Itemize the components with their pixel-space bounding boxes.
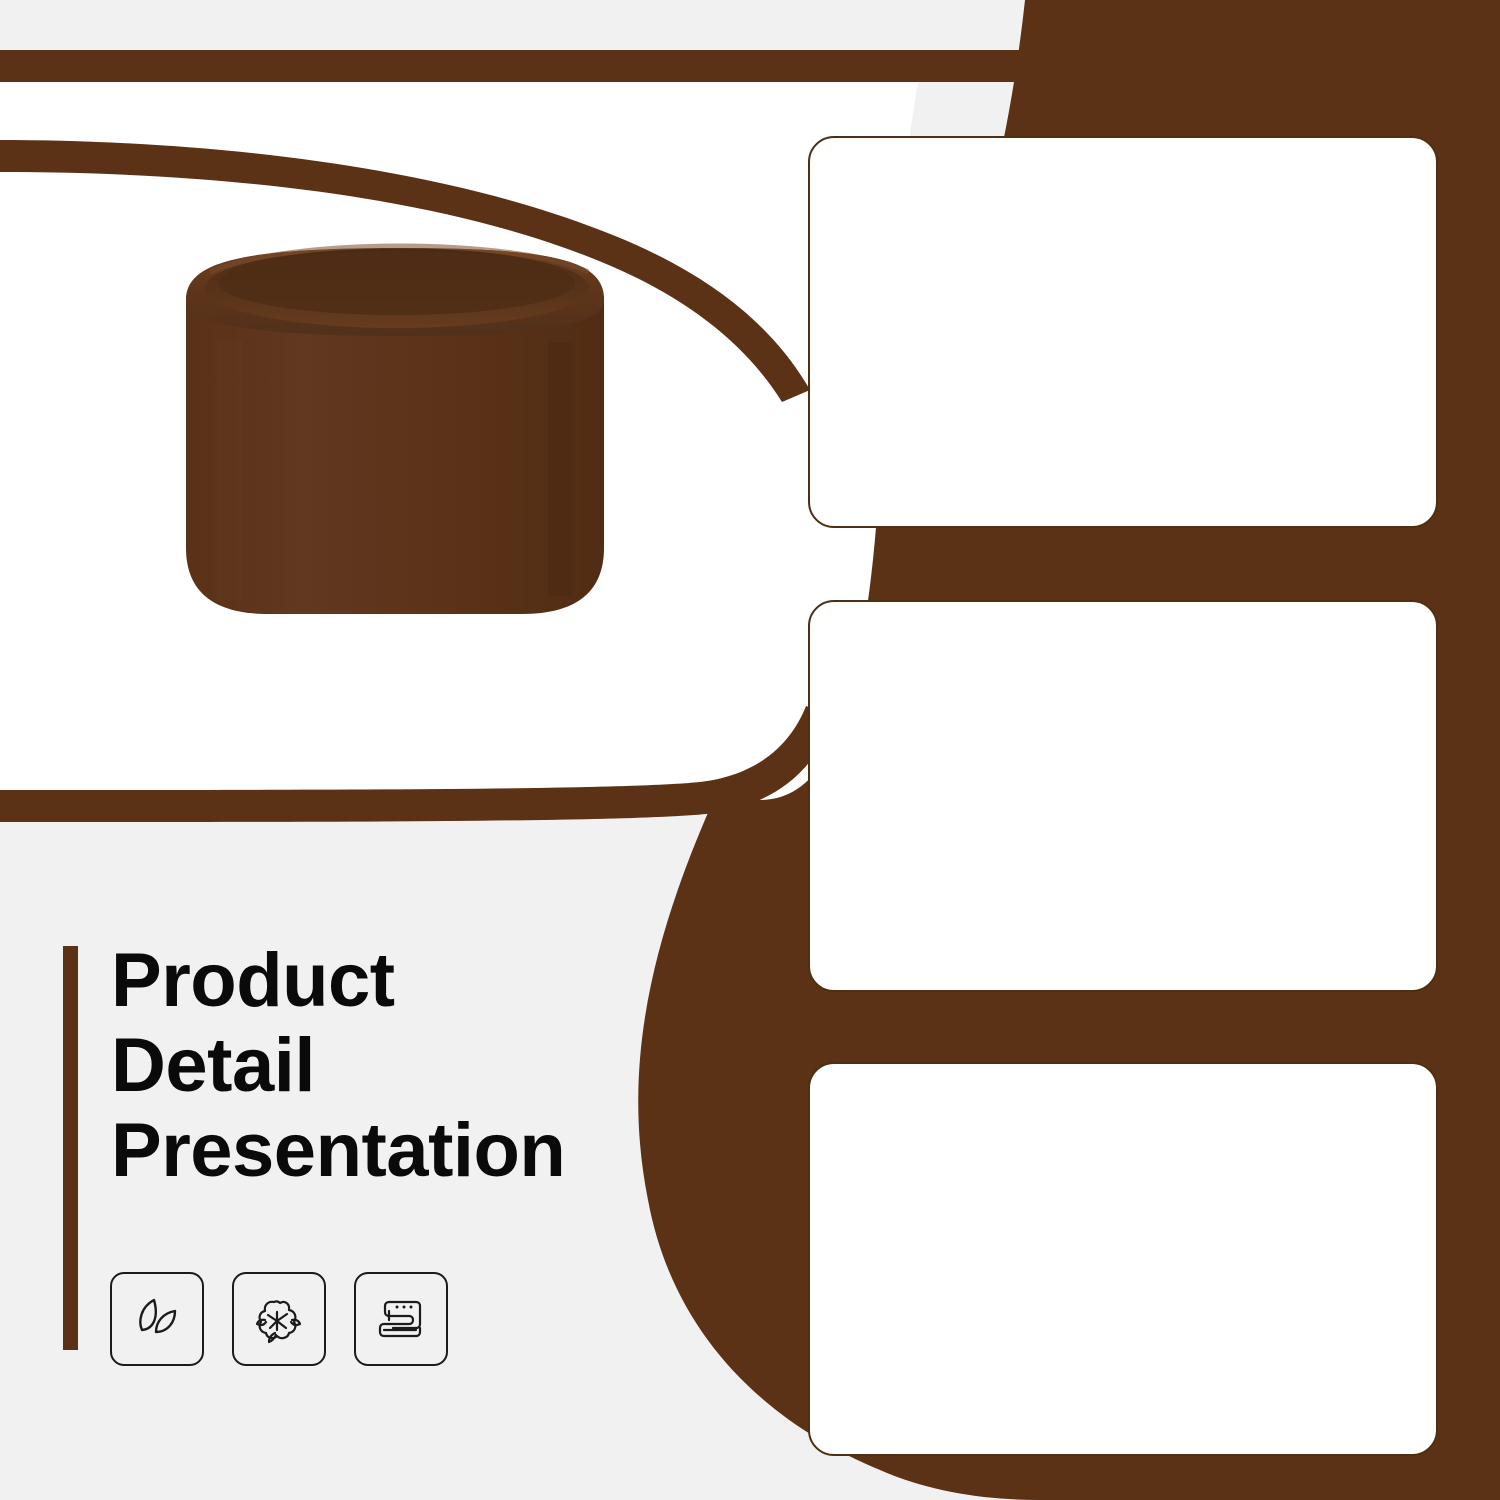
page-title: Product Detail Presentation [111,938,711,1193]
sewing-machine-icon [354,1272,448,1366]
product-presentation-page: Product Detail Presentation [0,0,1500,1500]
product-card-2[interactable] [808,600,1438,992]
title-accent-bar [63,946,78,1350]
product-card-3[interactable] [808,1062,1438,1456]
panel-top-stroke [0,50,1030,82]
cotton-icon [232,1272,326,1366]
product-hero-front-view [186,246,604,614]
leaf-icon [110,1272,204,1366]
product-card-1[interactable] [808,136,1438,528]
feature-icon-row [110,1272,448,1366]
